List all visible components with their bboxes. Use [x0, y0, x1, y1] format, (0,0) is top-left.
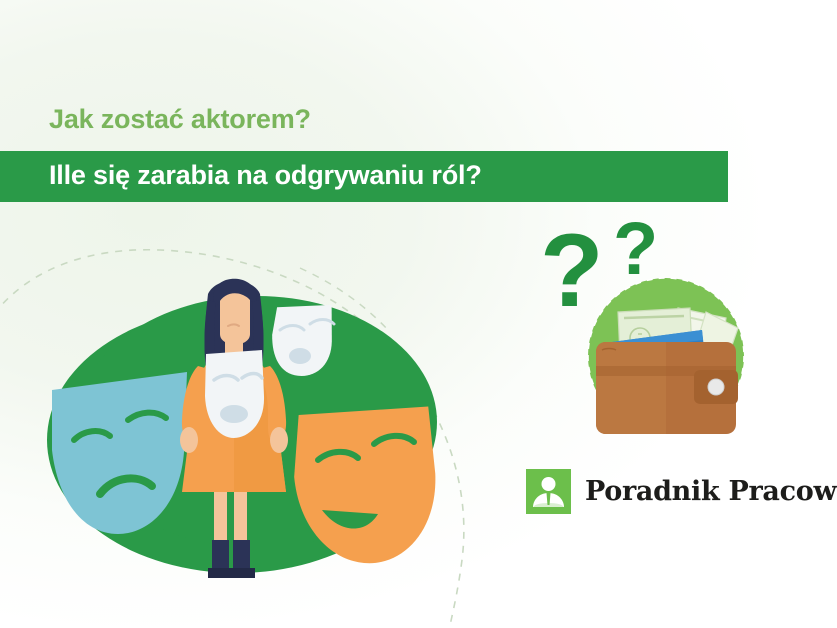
brand-logo[interactable]: Poradnik Pracownika: [526, 469, 837, 514]
poster-canvas: CREDIT CARD ? ? Jak zostać aktorem? Ille…: [0, 0, 837, 628]
person-avatar-icon: [526, 469, 571, 514]
wallet-money-illustration: CREDIT CARD: [578, 272, 758, 450]
wallet: [596, 342, 738, 434]
theatre-masks-illustration: [22, 272, 462, 602]
headline-question: Jak zostać aktorem?: [49, 104, 311, 135]
headline-subquestion: Ille się zarabia na odgrywaniu ról?: [49, 160, 482, 191]
question-mark-small: ?: [613, 212, 658, 286]
question-mark-large: ?: [540, 219, 604, 323]
brand-name: Poradnik Pracownika: [585, 476, 837, 507]
held-mask: [205, 350, 264, 438]
